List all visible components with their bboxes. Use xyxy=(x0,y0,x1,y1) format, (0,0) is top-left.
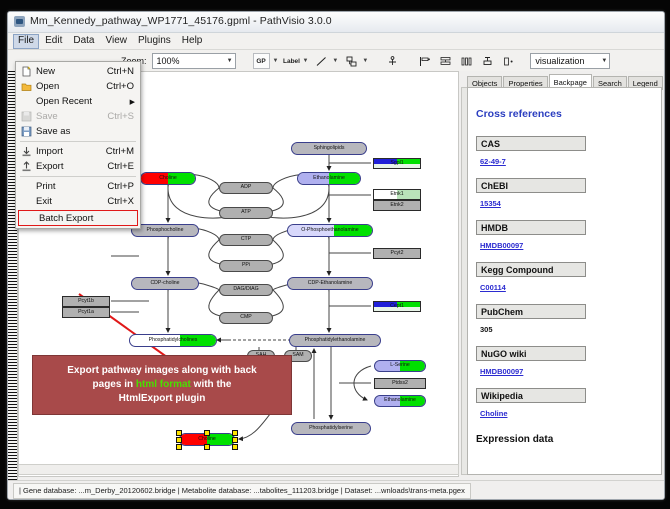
callout-line-3: HtmlExport plugin xyxy=(119,392,206,406)
xref-value-cas[interactable]: 62-49-7 xyxy=(480,157,506,166)
metabolite-node-phosphatidylcholines[interactable]: Phosphatidylcholines xyxy=(129,334,217,347)
line-icon xyxy=(316,56,327,67)
side-panel: Objects Properties Backpage Search Legen… xyxy=(459,71,664,480)
file-menu-item-import[interactable]: Import Ctrl+M xyxy=(16,144,140,159)
distribute-button[interactable] xyxy=(458,54,474,69)
backpage-content: Cross references CAS 62-49-7 ChEBI 15354… xyxy=(467,87,662,475)
metabolite-node-cdp-choline[interactable]: CDP-choline xyxy=(131,277,199,290)
chevron-down-icon[interactable]: ▼ xyxy=(332,58,338,64)
label-icon: Label xyxy=(283,58,300,65)
menu-view[interactable]: View xyxy=(100,34,132,49)
file-menu-item-print[interactable]: Print Ctrl+P xyxy=(16,179,140,194)
menu-plugins[interactable]: Plugins xyxy=(133,34,176,49)
xref-value-pubchem: 305 xyxy=(480,325,493,334)
status-text: | Gene database: ...m_Derby_20120602.bri… xyxy=(13,483,471,499)
selection-handle[interactable] xyxy=(176,430,182,436)
file-menu-item-export[interactable]: Export Ctrl+E xyxy=(16,159,140,174)
metabolite-node-sphingolipids[interactable]: Sphingolipids xyxy=(291,142,367,155)
callout-line-2a: pages in xyxy=(93,379,136,390)
group-icon xyxy=(482,56,493,67)
menu-separator xyxy=(20,141,136,142)
canvas-horizontal-scrollbar[interactable] xyxy=(18,464,459,475)
metabolite-node-atp[interactable]: ATP xyxy=(219,207,273,219)
export-icon xyxy=(16,161,36,172)
gene-node-sgpl1[interactable]: Sgpl1 xyxy=(373,158,421,169)
order-icon xyxy=(503,56,514,67)
callout-line-2b: with the xyxy=(191,379,232,390)
pathvisio-window: Mm_Kennedy_pathway_WP1771_45176.gpml - P… xyxy=(7,11,665,500)
chevron-down-icon[interactable]: ▼ xyxy=(302,58,308,64)
chevron-down-icon[interactable]: ▼ xyxy=(273,58,279,64)
metabolite-node-phosphocholine[interactable]: Phosphocholine xyxy=(131,224,199,237)
xref-value-kegg[interactable]: C00114 xyxy=(480,283,506,292)
callout-line-2: pages in html format with the xyxy=(93,378,232,392)
menu-edit[interactable]: Edit xyxy=(40,34,67,49)
gene-product-icon: GP xyxy=(256,58,265,65)
save-as-icon xyxy=(16,126,36,137)
align-left-button[interactable] xyxy=(416,54,432,69)
annotation-callout: Export pathway images along with back pa… xyxy=(32,355,292,415)
chevron-right-icon: ▶ xyxy=(130,98,135,106)
align-stack-icon xyxy=(440,56,451,67)
metabolite-node-l-serine[interactable]: L-Serine xyxy=(374,360,426,372)
menu-data[interactable]: Data xyxy=(68,34,99,49)
align-left-icon xyxy=(419,56,430,67)
selection-handle[interactable] xyxy=(204,444,210,450)
xref-label-hmdb: HMDB xyxy=(476,220,586,235)
xref-label-wikipedia: Wikipedia xyxy=(476,388,586,403)
pathvisio-icon xyxy=(14,16,25,27)
status-bar: | Gene database: ...m_Derby_20120602.bri… xyxy=(8,480,664,500)
xref-value-wikipedia[interactable]: Choline xyxy=(480,409,508,418)
file-menu-item-open-recent[interactable]: Open Recent ▶ xyxy=(16,94,140,109)
group-button[interactable] xyxy=(479,54,495,69)
zoom-value: 100% xyxy=(157,56,180,66)
selection-handle[interactable] xyxy=(204,430,210,436)
chevron-down-icon[interactable]: ▼ xyxy=(362,58,368,64)
metabolite-node-ethanolamine-top[interactable]: Ethanolamine xyxy=(297,172,361,185)
metabolite-node-ppi[interactable]: PPi xyxy=(219,260,273,272)
anchor-tool-button[interactable] xyxy=(384,54,400,69)
cross-references-heading: Cross references xyxy=(476,108,654,120)
metabolite-node-cmp[interactable]: CMP xyxy=(219,312,273,324)
gene-node-pcyt1a[interactable]: Pcyt1a xyxy=(62,307,110,318)
metabolite-node-ethanolamine-bottom[interactable]: Ethanolamine xyxy=(374,395,426,407)
xref-label-pubchem: PubChem xyxy=(476,304,586,319)
xref-label-chebi: ChEBI xyxy=(476,178,586,193)
gene-node-pcyt1b[interactable]: Pcyt1b xyxy=(62,296,110,307)
file-menu-item-new[interactable]: New Ctrl+N xyxy=(16,64,140,79)
visualization-combo[interactable]: visualization ▼ xyxy=(530,53,610,69)
import-icon xyxy=(16,146,36,157)
xref-label-cas: CAS xyxy=(476,136,586,151)
menu-help[interactable]: Help xyxy=(177,34,208,49)
metabolite-node-choline-top[interactable]: Choline xyxy=(140,172,196,185)
label-tool-button[interactable]: Label xyxy=(283,54,299,69)
metabolite-node-cdp-ethanolamine[interactable]: CDP-Ethanolamine xyxy=(287,277,373,290)
gene-node-pcyt2[interactable]: Pcyt2 xyxy=(373,248,421,259)
gene-node-etnk2[interactable]: Etnk2 xyxy=(373,200,421,211)
metabolite-node-adp[interactable]: ADP xyxy=(219,182,273,194)
visualization-value: visualization xyxy=(535,56,584,66)
file-menu-item-save-as[interactable]: Save as xyxy=(16,124,140,139)
file-menu-item-batch-export[interactable]: Batch Export xyxy=(18,210,138,226)
metabolite-node-o-phosphoethanolamine[interactable]: O-Phosphoethanolamine xyxy=(287,224,373,237)
menu-file[interactable]: File xyxy=(13,34,39,49)
callout-highlight: html format xyxy=(136,379,191,390)
callout-line-1: Export pathway images along with back xyxy=(67,364,257,378)
expression-data-heading: Expression data xyxy=(476,434,654,445)
file-menu-item-open[interactable]: Open Ctrl+O xyxy=(16,79,140,94)
metabolite-node-phosphatidylethanolamine[interactable]: Phosphatidylethanolamine xyxy=(289,334,381,347)
xref-value-chebi[interactable]: 15354 xyxy=(480,199,501,208)
title-bar: Mm_Kennedy_pathway_WP1771_45176.gpml - P… xyxy=(8,12,664,33)
xref-label-nugo: NuGO wiki xyxy=(476,346,586,361)
selection-handle[interactable] xyxy=(232,437,238,443)
new-document-icon xyxy=(16,66,36,77)
screenshot-frame: Mm_Kennedy_pathway_WP1771_45176.gpml - P… xyxy=(0,0,670,509)
selection-handle[interactable] xyxy=(232,430,238,436)
gene-node-cept1[interactable]: Cept1 xyxy=(373,301,421,312)
selection-handle[interactable] xyxy=(232,444,238,450)
xref-value-nugo[interactable]: HMDB00097 xyxy=(480,367,523,376)
zoom-combo[interactable]: 100% ▼ xyxy=(152,53,236,69)
xref-value-hmdb[interactable]: HMDB00097 xyxy=(480,241,523,250)
chevron-down-icon: ▼ xyxy=(227,58,233,64)
xref-label-kegg: Kegg Compound xyxy=(476,262,586,277)
gene-node-ptdss2[interactable]: Ptdss2 xyxy=(374,378,426,389)
gene-node-etnk1[interactable]: Etnk1 xyxy=(373,189,421,200)
folder-open-icon xyxy=(16,81,36,92)
save-disk-icon xyxy=(16,111,36,122)
order-button[interactable] xyxy=(500,54,516,69)
align-stack-button[interactable] xyxy=(437,54,453,69)
file-menu-dropdown[interactable]: New Ctrl+N Open Ctrl+O Open Recent ▶ Sav… xyxy=(15,61,141,229)
menu-separator xyxy=(20,176,136,177)
line-tool-button[interactable] xyxy=(313,54,329,69)
metabolite-node-dag[interactable]: DAG/DIAG xyxy=(219,284,273,296)
menu-bar: File Edit Data View Plugins Help xyxy=(8,33,664,50)
shape-icon xyxy=(346,56,357,67)
file-menu-item-exit[interactable]: Exit Ctrl+X xyxy=(16,194,140,209)
distribute-icon xyxy=(461,56,472,67)
chevron-down-icon: ▼ xyxy=(601,58,607,64)
anchor-icon xyxy=(387,56,398,67)
window-title: Mm_Kennedy_pathway_WP1771_45176.gpml - P… xyxy=(30,15,332,27)
metabolite-node-phosphatidylserine[interactable]: Phosphatidylserine xyxy=(291,422,371,435)
metabolite-node-ctp[interactable]: CTP xyxy=(219,234,273,246)
file-menu-item-save: Save Ctrl+S xyxy=(16,109,140,124)
shape-tool-button[interactable] xyxy=(343,54,359,69)
datanode-tool-button[interactable]: GP xyxy=(253,53,270,69)
selection-handle[interactable] xyxy=(176,444,182,450)
selection-handle[interactable] xyxy=(176,437,182,443)
